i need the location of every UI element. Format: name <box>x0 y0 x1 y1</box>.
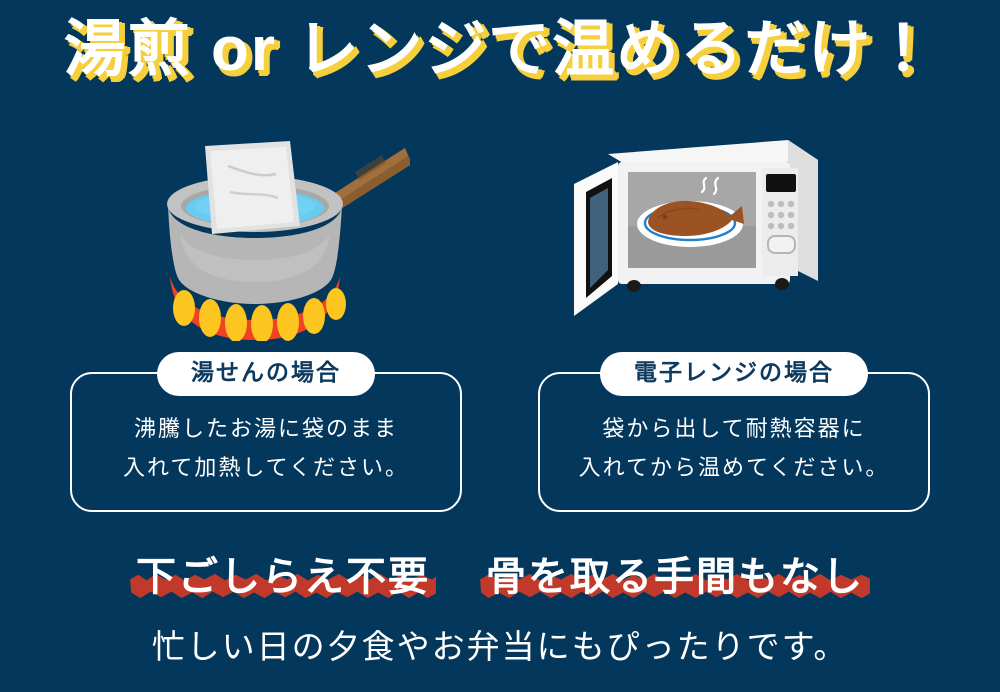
pot-illustration <box>150 126 410 346</box>
microwave-display <box>766 174 796 192</box>
promo-poster: 湯煎 or レンジで温めるだけ！ <box>0 0 1000 692</box>
microwave-keypad <box>768 201 794 229</box>
microwave-control-panel <box>762 168 798 276</box>
microwave-door <box>574 162 618 316</box>
highlight-text: 下ごしらえ不要 <box>136 555 430 599</box>
step-line: 袋から出して耐熱容器に <box>540 410 928 449</box>
step-line: 沸騰したお湯に袋のまま <box>72 410 460 449</box>
highlight-text: 骨を取る手間もなし <box>486 555 864 599</box>
tagline: 忙しい日の夕食やお弁当にもぴったりです。 <box>0 626 1000 669</box>
microwave-illustration <box>530 126 830 346</box>
microwave-start-button <box>768 236 795 253</box>
highlight-no-prep: 下ごしらえ不要 <box>128 552 438 602</box>
highlight-no-bones: 骨を取る手間もなし <box>478 552 872 602</box>
step-card-yusen: 湯せんの場合 沸騰したお湯に袋のまま 入れて加熱してください。 <box>70 372 462 512</box>
retort-pouch-icon <box>205 141 300 234</box>
step-card-microwave: 電子レンジの場合 袋から出して耐熱容器に 入れてから温めてください。 <box>538 372 930 512</box>
step-card-body-microwave: 袋から出して耐熱容器に 入れてから温めてください。 <box>540 410 928 487</box>
step-card-body-yusen: 沸騰したお湯に袋のまま 入れて加熱してください。 <box>72 410 460 487</box>
step-line: 入れてから温めてください。 <box>540 449 928 488</box>
step-card-label-yusen: 湯せんの場合 <box>157 352 375 396</box>
highlight-row: 下ごしらえ不要 骨を取る手間もなし <box>0 552 1000 614</box>
step-line: 入れて加熱してください。 <box>72 449 460 488</box>
page-title: 湯煎 or レンジで温めるだけ！ <box>0 14 1000 85</box>
step-card-label-microwave: 電子レンジの場合 <box>600 352 868 396</box>
illustration-row <box>0 126 1000 341</box>
